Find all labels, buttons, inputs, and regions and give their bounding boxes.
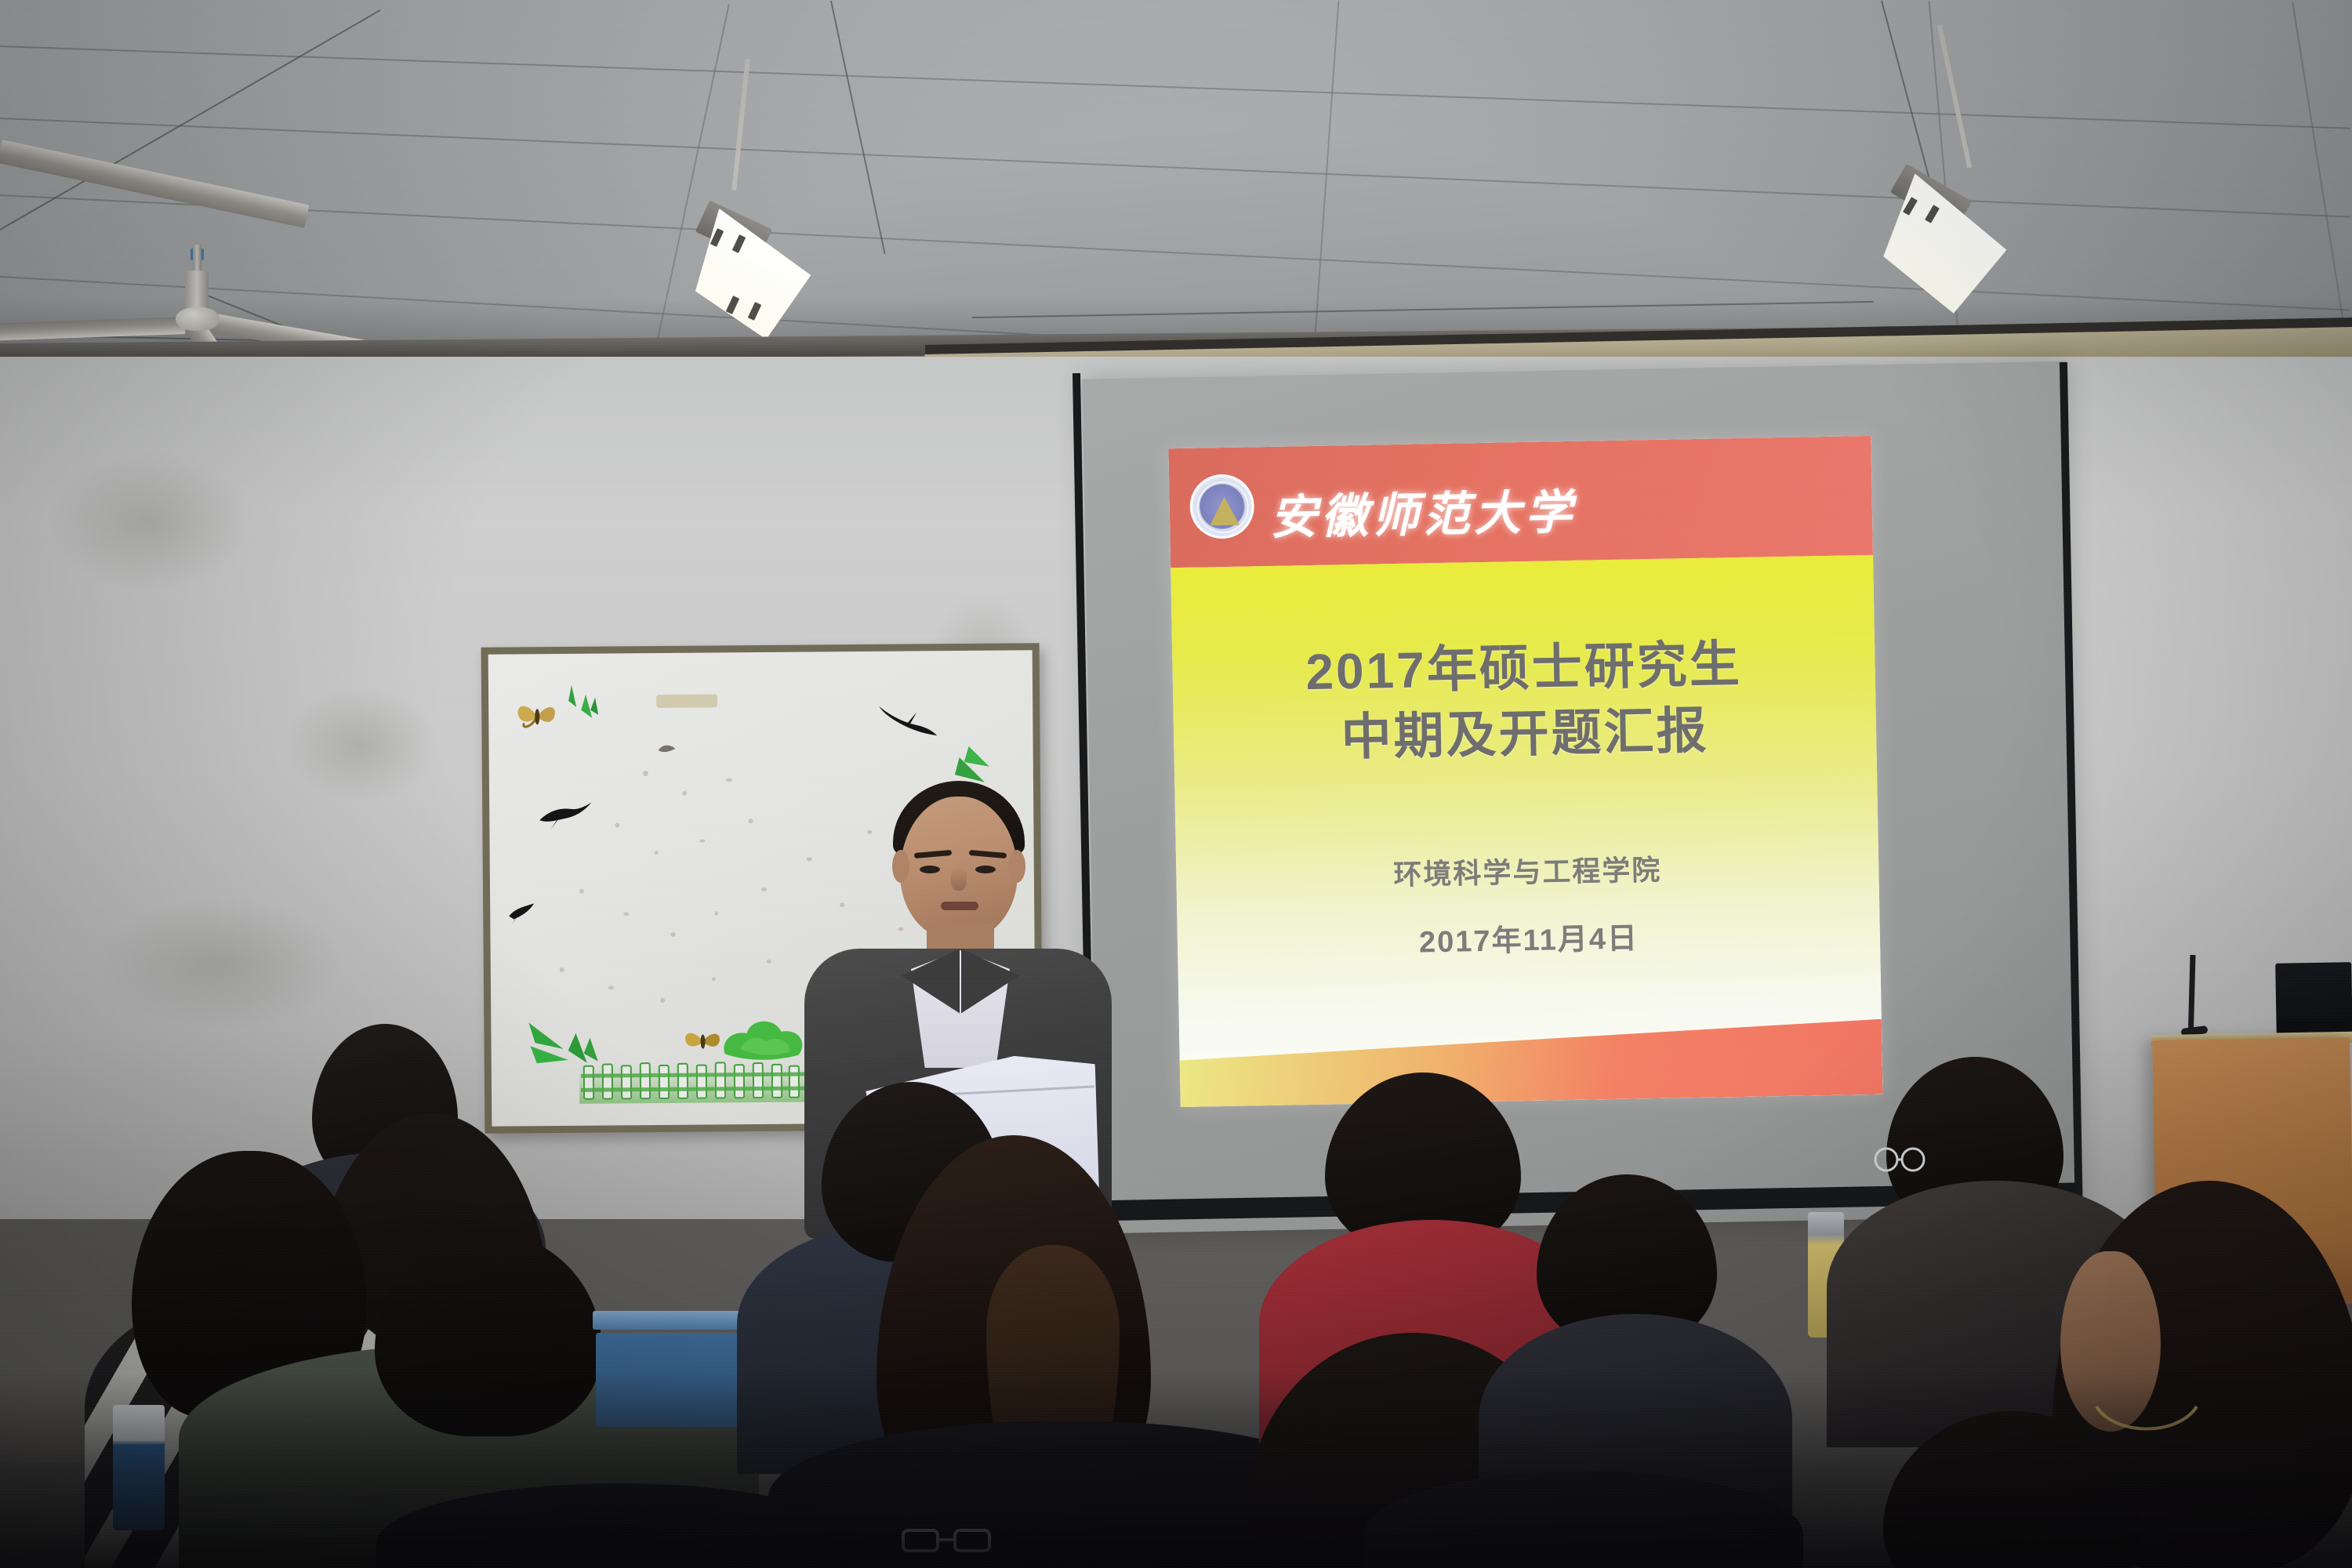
bird-marking: [657, 742, 677, 757]
grass-tuft: [561, 684, 606, 728]
slide-title: 2017年硕士研究生 中期及开题汇报: [1172, 629, 1877, 774]
butterfly-decoration: [514, 699, 561, 734]
eyeglasses-icon: [1872, 1146, 1927, 1173]
water-cup: [113, 1405, 165, 1530]
eyeglasses-icon: [900, 1524, 994, 1555]
swallow-bird: [507, 902, 539, 927]
slide-title-line-2: 中期及开题汇报: [1173, 695, 1876, 774]
fence-pickets: [579, 1058, 808, 1105]
slide-title-line-1: 2017年硕士研究生: [1172, 629, 1875, 708]
university-seal-icon: [1189, 474, 1254, 539]
presenter-ear: [1008, 850, 1025, 883]
swallow-bird: [536, 801, 593, 833]
projected-slide: 安徽师范大学 2017年硕士研究生 中期及开题汇报 环境科学与工程学院 2017…: [1168, 436, 1882, 1107]
classroom-presentation-scene: 安徽师范大学 2017年硕士研究生 中期及开题汇报 环境科学与工程学院 2017…: [0, 0, 2352, 1568]
slide-header-band: 安徽师范大学: [1168, 436, 1873, 568]
swallow-bird: [874, 701, 940, 739]
presenter-ear: [892, 850, 909, 883]
podium-monitor: [2275, 962, 2352, 1039]
presenter-mouth: [941, 902, 978, 910]
university-name: 安徽师范大学: [1269, 474, 1577, 548]
necklace-icon: [2092, 1405, 2201, 1444]
